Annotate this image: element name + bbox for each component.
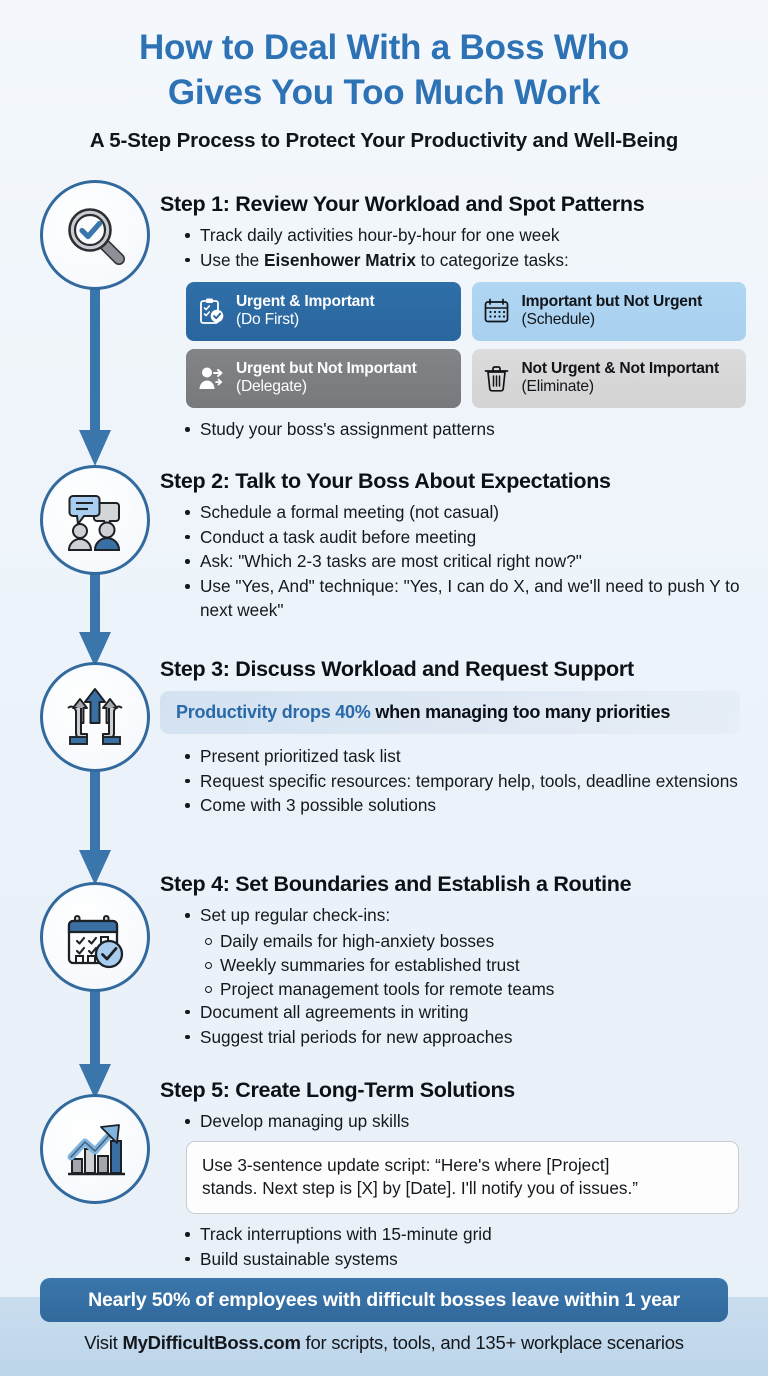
quadrant-sub: (Delegate) — [236, 378, 417, 396]
step-3-bullets: Present prioritized task list Request sp… — [186, 745, 750, 818]
growth-chart-icon — [59, 1113, 131, 1185]
step-section-5: Step 5: Create Long-Term Solutions Devel… — [160, 1078, 750, 1273]
list-item: Ask: "Which 2-3 tasks are most critical … — [186, 550, 750, 574]
list-item: Daily emails for high-anxiety bosses — [204, 929, 750, 953]
connector-arrow-1-2 — [77, 288, 113, 470]
list-item: Develop managing up skills — [186, 1110, 750, 1134]
eisenhower-matrix: Urgent & Important (Do First) — [186, 282, 746, 408]
script-line-1: Use 3-sentence update script: “Here's wh… — [202, 1154, 723, 1178]
script-line-2: stands. Next step is [X] by [Date]. I'll… — [202, 1177, 723, 1201]
matrix-quadrant-text: Urgent but Not Important (Delegate) — [236, 360, 417, 397]
step-1-bullets-before: Track daily activities hour-by-hour for … — [186, 224, 750, 272]
update-script-box: Use 3-sentence update script: “Here's wh… — [186, 1141, 739, 1214]
trash-bin-icon — [482, 363, 512, 393]
list-item: Schedule a formal meeting (not casual) — [186, 501, 750, 525]
list-item: Use the Eisenhower Matrix to categorize … — [186, 249, 750, 273]
person-arrow-icon — [196, 363, 226, 393]
stat-highlight-box: Productivity drops 40% when managing too… — [160, 691, 740, 734]
list-item: Project management tools for remote team… — [204, 977, 750, 1001]
quadrant-head: Important but Not Urgent — [522, 293, 703, 311]
footer-stat-pill: Nearly 50% of employees with difficult b… — [40, 1278, 728, 1322]
calendar-check-icon — [59, 901, 131, 973]
step-2-title: Step 2: Talk to Your Boss About Expectat… — [160, 469, 750, 494]
list-item: Track interruptions with 15-minute grid — [186, 1223, 750, 1247]
matrix-quadrant-do-first[interactable]: Urgent & Important (Do First) — [186, 282, 461, 341]
quadrant-head: Urgent but Not Important — [236, 360, 417, 378]
step-section-4: Step 4: Set Boundaries and Establish a R… — [160, 872, 750, 1050]
footer-note: Visit MyDifficultBoss.com for scripts, t… — [0, 1332, 768, 1354]
list-item: Suggest trial periods for new approaches — [186, 1026, 750, 1050]
footer-note-post: for scripts, tools, and 135+ workplace s… — [301, 1332, 684, 1353]
list-item: Track daily activities hour-by-hour for … — [186, 224, 750, 248]
step-node-4[interactable] — [40, 882, 150, 992]
matrix-quadrant-schedule[interactable]: Important but Not Urgent (Schedule) — [472, 282, 747, 341]
stat-accent-text: Productivity drops 40% — [176, 702, 371, 722]
list-item: Use "Yes, And" technique: "Yes, I can do… — [186, 575, 750, 622]
list-item: Present prioritized task list — [186, 745, 750, 769]
step-5-bullets-before: Develop managing up skills — [186, 1110, 750, 1134]
list-item: Conduct a task audit before meeting — [186, 526, 750, 550]
step-section-2: Step 2: Talk to Your Boss About Expectat… — [160, 469, 750, 624]
step-node-5[interactable] — [40, 1094, 150, 1204]
step-4-bullets: Set up regular check-ins: — [186, 904, 750, 928]
quadrant-sub: (Eliminate) — [522, 378, 720, 396]
step-2-bullets: Schedule a formal meeting (not casual) C… — [186, 501, 750, 623]
clipboard-check-icon — [196, 296, 226, 326]
step-4-title: Step 4: Set Boundaries and Establish a R… — [160, 872, 750, 897]
matrix-quadrant-delegate[interactable]: Urgent but Not Important (Delegate) — [186, 349, 461, 408]
connector-arrow-4-5 — [77, 990, 113, 1102]
list-item: Come with 3 possible solutions — [186, 794, 750, 818]
two-people-chat-icon — [59, 484, 131, 556]
step-4-bullets-after: Document all agreements in writing Sugge… — [186, 1001, 750, 1049]
quadrant-head: Not Urgent & Not Important — [522, 360, 720, 378]
magnifier-check-icon — [59, 199, 131, 271]
calendar-dots-icon — [482, 296, 512, 326]
list-item: Document all agreements in writing — [186, 1001, 750, 1025]
matrix-quadrant-text: Not Urgent & Not Important (Eliminate) — [522, 360, 720, 397]
step-node-3[interactable] — [40, 662, 150, 772]
list-item: Build sustainable systems — [186, 1248, 750, 1272]
matrix-intro-bold: Eisenhower Matrix — [264, 250, 416, 270]
stat-rest-text: when managing too many priorities — [371, 702, 671, 722]
list-item: Set up regular check-ins: — [186, 904, 750, 928]
step-node-2[interactable] — [40, 465, 150, 575]
footer-note-pre: Visit — [84, 1332, 122, 1353]
list-item: Weekly summaries for established trust — [204, 953, 750, 977]
step-1-bullets-after: Study your boss's assignment patterns — [186, 418, 750, 442]
step-3-title: Step 3: Discuss Workload and Request Sup… — [160, 657, 750, 682]
list-item: Request specific resources: temporary he… — [186, 770, 750, 794]
quadrant-sub: (Do First) — [236, 311, 374, 329]
step-5-title: Step 5: Create Long-Term Solutions — [160, 1078, 750, 1103]
quadrant-head: Urgent & Important — [236, 293, 374, 311]
matrix-quadrant-text: Important but Not Urgent (Schedule) — [522, 293, 703, 330]
list-item: Study your boss's assignment patterns — [186, 418, 750, 442]
step-section-1: Step 1: Review Your Workload and Spot Pa… — [160, 192, 750, 443]
connector-arrow-2-3 — [77, 572, 113, 670]
matrix-quadrant-text: Urgent & Important (Do First) — [236, 293, 374, 330]
quadrant-sub: (Schedule) — [522, 311, 703, 329]
step-section-3: Step 3: Discuss Workload and Request Sup… — [160, 657, 750, 819]
step-node-1[interactable] — [40, 180, 150, 290]
infographic-page: How to Deal With a Boss Who Gives You To… — [0, 0, 768, 1376]
step-4-sub-bullets: Daily emails for high-anxiety bosses Wee… — [204, 929, 750, 1001]
connector-arrow-3-4 — [77, 770, 113, 888]
step-5-bullets-after: Track interruptions with 15-minute grid … — [186, 1223, 750, 1271]
step-1-title: Step 1: Review Your Workload and Spot Pa… — [160, 192, 750, 217]
matrix-quadrant-eliminate[interactable]: Not Urgent & Not Important (Eliminate) — [472, 349, 747, 408]
matrix-intro-pre: Use the — [200, 250, 264, 270]
matrix-intro-post: to categorize tasks: — [416, 250, 569, 270]
footer-brand-link[interactable]: MyDifficultBoss.com — [122, 1332, 300, 1353]
hands-arrows-up-icon — [59, 681, 131, 753]
